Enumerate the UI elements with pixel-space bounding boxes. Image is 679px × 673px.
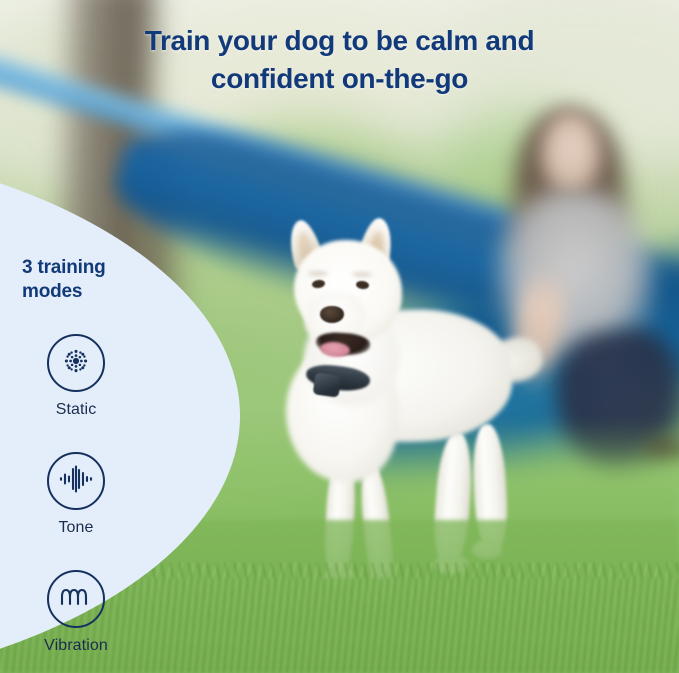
headline-line-1: Train your dog to be calm and [145, 25, 535, 56]
static-mode-label: Static [18, 401, 134, 419]
product-feature-image: Train your dog to be calm and confident … [0, 0, 679, 673]
headline: Train your dog to be calm and confident … [0, 22, 679, 98]
vibration-mode-label: Vibration [18, 637, 134, 655]
panel-title: 3 training modes [22, 256, 172, 304]
training-mode-tone: Tone [18, 452, 134, 537]
dog-brow [352, 272, 372, 277]
dog-nose [320, 306, 344, 323]
person-face [540, 112, 602, 194]
training-mode-static: Static [18, 334, 134, 419]
static-burst-icon [58, 343, 94, 384]
static-mode-icon-circle [47, 334, 105, 392]
headline-line-2: confident on-the-go [60, 60, 619, 98]
vibration-wave-icon [58, 582, 94, 617]
training-modes-panel: 3 training modes [0, 136, 240, 673]
dog-collar-receiver [313, 372, 342, 397]
vibration-mode-icon-circle [47, 570, 105, 628]
panel-title-line-2: modes [22, 281, 82, 302]
tone-mode-icon-circle [47, 452, 105, 510]
panel-title-line-1: 3 training [22, 257, 106, 278]
sound-wave-icon [57, 462, 95, 501]
dog-brow [308, 271, 328, 276]
tone-mode-label: Tone [18, 519, 134, 537]
training-mode-vibration: Vibration [18, 570, 134, 655]
